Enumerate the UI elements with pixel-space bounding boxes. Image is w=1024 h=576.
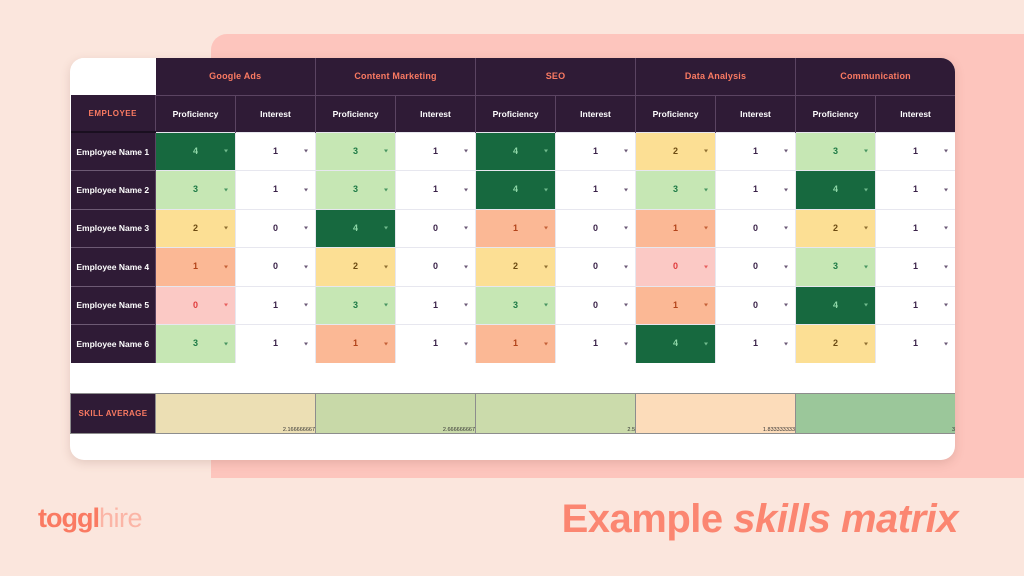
chevron-down-icon[interactable] (624, 227, 628, 230)
skills-matrix-card: Google Ads Content Marketing SEO Data An… (70, 58, 955, 460)
table-header: Google Ads Content Marketing SEO Data An… (71, 58, 956, 132)
subheader-interest-google-ads: Interest (236, 95, 316, 132)
interest-cell[interactable]: 0 (556, 286, 636, 325)
table-row: Employee Name 63111114121 (71, 325, 956, 363)
chevron-down-icon[interactable] (624, 304, 628, 307)
employee-name-cell: Employee Name 3 (71, 209, 156, 248)
chevron-down-icon[interactable] (304, 150, 308, 153)
proficiency-cell[interactable]: 2 (796, 325, 876, 363)
interest-cell[interactable]: 1 (556, 132, 636, 171)
interest-cell[interactable]: 0 (716, 209, 796, 248)
proficiency-cell[interactable]: 4 (316, 209, 396, 248)
chevron-down-icon[interactable] (784, 150, 788, 153)
proficiency-cell[interactable]: 3 (636, 171, 716, 210)
subheader-interest-content-marketing: Interest (396, 95, 476, 132)
employee-name-cell: Employee Name 4 (71, 248, 156, 287)
interest-cell[interactable]: 0 (716, 248, 796, 287)
chevron-down-icon[interactable] (464, 188, 468, 191)
interest-cell[interactable]: 1 (716, 171, 796, 210)
chevron-down-icon[interactable] (464, 304, 468, 307)
subheader-interest-data-analysis: Interest (716, 95, 796, 132)
employee-name-cell: Employee Name 5 (71, 286, 156, 325)
chevron-down-icon[interactable] (304, 188, 308, 191)
chevron-down-icon[interactable] (224, 265, 228, 268)
chevron-down-icon[interactable] (544, 227, 548, 230)
proficiency-cell[interactable]: 0 (156, 286, 236, 325)
chevron-down-icon[interactable] (864, 188, 868, 191)
skill-average-label: SKILL AVERAGE (71, 394, 156, 434)
chevron-down-icon[interactable] (944, 342, 948, 345)
interest-cell[interactable]: 1 (236, 286, 316, 325)
interest-cell[interactable]: 1 (716, 325, 796, 363)
interest-cell[interactable]: 1 (876, 248, 955, 287)
proficiency-cell[interactable]: 1 (156, 248, 236, 287)
proficiency-cell[interactable]: 2 (476, 248, 556, 287)
chevron-down-icon[interactable] (864, 304, 868, 307)
toggl-hire-logo: togglhire (38, 505, 142, 532)
interest-cell[interactable]: 1 (876, 286, 955, 325)
interest-cell[interactable]: 1 (396, 286, 476, 325)
subheader-proficiency-communication: Proficiency (796, 95, 876, 132)
chevron-down-icon[interactable] (944, 304, 948, 307)
proficiency-cell[interactable]: 1 (316, 325, 396, 363)
chevron-down-icon[interactable] (944, 188, 948, 191)
proficiency-cell[interactable]: 4 (636, 325, 716, 363)
page-title: Example skills matrix (562, 497, 958, 542)
interest-cell[interactable]: 0 (396, 209, 476, 248)
chevron-down-icon[interactable] (784, 188, 788, 191)
employee-name-cell: Employee Name 6 (71, 325, 156, 363)
interest-cell[interactable]: 1 (876, 171, 955, 210)
chevron-down-icon[interactable] (304, 227, 308, 230)
chevron-down-icon[interactable] (384, 265, 388, 268)
proficiency-cell[interactable]: 4 (476, 171, 556, 210)
chevron-down-icon[interactable] (224, 188, 228, 191)
chevron-down-icon[interactable] (384, 150, 388, 153)
title-italic-part: skills matrix (733, 497, 958, 541)
proficiency-cell[interactable]: 2 (316, 248, 396, 287)
proficiency-cell[interactable]: 0 (636, 248, 716, 287)
skill-average-cell: 1.833333333 (636, 394, 796, 434)
interest-cell[interactable]: 1 (876, 209, 955, 248)
chevron-down-icon[interactable] (784, 227, 788, 230)
interest-cell[interactable]: 1 (396, 171, 476, 210)
subheader-proficiency-data-analysis: Proficiency (636, 95, 716, 132)
table-row: Employee Name 14131412131 (71, 132, 956, 171)
table-row: Employee Name 50131301041 (71, 286, 956, 325)
proficiency-cell[interactable]: 1 (476, 209, 556, 248)
chevron-down-icon[interactable] (784, 265, 788, 268)
interest-cell[interactable]: 1 (236, 325, 316, 363)
corner-blank-cell (71, 58, 156, 95)
proficiency-cell[interactable]: 3 (796, 132, 876, 171)
interest-cell[interactable]: 0 (236, 248, 316, 287)
proficiency-cell[interactable]: 3 (476, 286, 556, 325)
table-row: Employee Name 32040101021 (71, 209, 956, 248)
proficiency-cell[interactable]: 4 (796, 171, 876, 210)
interest-cell[interactable]: 1 (876, 132, 955, 171)
chevron-down-icon[interactable] (544, 342, 548, 345)
chevron-down-icon[interactable] (384, 188, 388, 191)
chevron-down-icon[interactable] (224, 304, 228, 307)
employee-column-header: EMPLOYEE (71, 95, 156, 132)
chevron-down-icon[interactable] (864, 342, 868, 345)
chevron-down-icon[interactable] (464, 150, 468, 153)
skill-group-header-row: Google Ads Content Marketing SEO Data An… (71, 58, 956, 95)
chevron-down-icon[interactable] (384, 304, 388, 307)
proficiency-cell[interactable]: 2 (156, 209, 236, 248)
spacer-cell (71, 363, 956, 394)
proficiency-cell[interactable]: 1 (636, 286, 716, 325)
chevron-down-icon[interactable] (544, 188, 548, 191)
skill-average-cell: 2.5 (476, 394, 636, 434)
chevron-down-icon[interactable] (544, 150, 548, 153)
proficiency-cell[interactable]: 3 (156, 325, 236, 363)
chevron-down-icon[interactable] (864, 150, 868, 153)
skill-header-google-ads: Google Ads (156, 58, 316, 95)
proficiency-cell[interactable]: 4 (476, 132, 556, 171)
chevron-down-icon[interactable] (704, 304, 708, 307)
interest-cell[interactable]: 1 (236, 171, 316, 210)
skills-matrix-table: Google Ads Content Marketing SEO Data An… (70, 58, 955, 434)
employee-name-cell: Employee Name 2 (71, 171, 156, 210)
interest-cell[interactable]: 1 (716, 132, 796, 171)
table-row: Employee Name 41020200031 (71, 248, 956, 287)
interest-cell[interactable]: 0 (556, 209, 636, 248)
chevron-down-icon[interactable] (464, 265, 468, 268)
logo-hire-text: hire (99, 503, 142, 533)
proficiency-cell[interactable]: 3 (156, 171, 236, 210)
interest-cell[interactable]: 1 (396, 325, 476, 363)
skill-header-communication: Communication (796, 58, 955, 95)
subheader-interest-seo: Interest (556, 95, 636, 132)
chevron-down-icon[interactable] (704, 342, 708, 345)
sub-header-row: EMPLOYEE Proficiency Interest Proficienc… (71, 95, 956, 132)
interest-cell[interactable]: 1 (396, 132, 476, 171)
interest-cell[interactable]: 0 (556, 248, 636, 287)
interest-cell[interactable]: 1 (556, 325, 636, 363)
chevron-down-icon[interactable] (304, 342, 308, 345)
chevron-down-icon[interactable] (384, 342, 388, 345)
proficiency-cell[interactable]: 1 (636, 209, 716, 248)
table-body: Employee Name 14131412131Employee Name 2… (71, 132, 956, 434)
interest-cell[interactable]: 1 (236, 132, 316, 171)
proficiency-cell[interactable]: 3 (316, 171, 396, 210)
chevron-down-icon[interactable] (224, 150, 228, 153)
chevron-down-icon[interactable] (944, 227, 948, 230)
logo-toggl-text: toggl (38, 503, 99, 533)
chevron-down-icon[interactable] (624, 265, 628, 268)
employee-name-cell: Employee Name 1 (71, 132, 156, 171)
proficiency-cell[interactable]: 3 (316, 286, 396, 325)
chevron-down-icon[interactable] (384, 227, 388, 230)
chevron-down-icon[interactable] (224, 342, 228, 345)
interest-cell[interactable]: 1 (876, 325, 955, 363)
skill-header-data-analysis: Data Analysis (636, 58, 796, 95)
proficiency-cell[interactable]: 2 (796, 209, 876, 248)
title-plain-part: Example (562, 497, 734, 541)
proficiency-cell[interactable]: 2 (636, 132, 716, 171)
skill-average-cell: 2.666666667 (316, 394, 476, 434)
skill-average-row: SKILL AVERAGE2.1666666672.6666666672.51.… (71, 394, 956, 434)
skill-header-seo: SEO (476, 58, 636, 95)
chevron-down-icon[interactable] (784, 304, 788, 307)
chevron-down-icon[interactable] (544, 265, 548, 268)
chevron-down-icon[interactable] (704, 150, 708, 153)
table-row: Employee Name 23131413141 (71, 171, 956, 210)
subheader-proficiency-content-marketing: Proficiency (316, 95, 396, 132)
chevron-down-icon[interactable] (784, 342, 788, 345)
chevron-down-icon[interactable] (224, 227, 228, 230)
chevron-down-icon[interactable] (304, 265, 308, 268)
subheader-proficiency-seo: Proficiency (476, 95, 556, 132)
chevron-down-icon[interactable] (624, 150, 628, 153)
skill-average-cell: 3 (796, 394, 955, 434)
chevron-down-icon[interactable] (944, 150, 948, 153)
proficiency-cell[interactable]: 3 (796, 248, 876, 287)
chevron-down-icon[interactable] (704, 265, 708, 268)
proficiency-cell[interactable]: 4 (796, 286, 876, 325)
skill-average-cell: 2.166666667 (156, 394, 316, 434)
chevron-down-icon[interactable] (704, 227, 708, 230)
skill-header-content-marketing: Content Marketing (316, 58, 476, 95)
proficiency-cell[interactable]: 3 (316, 132, 396, 171)
subheader-proficiency-google-ads: Proficiency (156, 95, 236, 132)
interest-cell[interactable]: 0 (236, 209, 316, 248)
interest-cell[interactable]: 0 (716, 286, 796, 325)
chevron-down-icon[interactable] (864, 265, 868, 268)
interest-cell[interactable]: 0 (396, 248, 476, 287)
chevron-down-icon[interactable] (464, 227, 468, 230)
table-spacer-row (71, 363, 956, 394)
chevron-down-icon[interactable] (704, 188, 708, 191)
chevron-down-icon[interactable] (624, 188, 628, 191)
proficiency-cell[interactable]: 4 (156, 132, 236, 171)
chevron-down-icon[interactable] (304, 304, 308, 307)
interest-cell[interactable]: 1 (556, 171, 636, 210)
chevron-down-icon[interactable] (624, 342, 628, 345)
chevron-down-icon[interactable] (944, 265, 948, 268)
proficiency-cell[interactable]: 1 (476, 325, 556, 363)
chevron-down-icon[interactable] (544, 304, 548, 307)
chevron-down-icon[interactable] (864, 227, 868, 230)
chevron-down-icon[interactable] (464, 342, 468, 345)
subheader-interest-communication: Interest (876, 95, 955, 132)
